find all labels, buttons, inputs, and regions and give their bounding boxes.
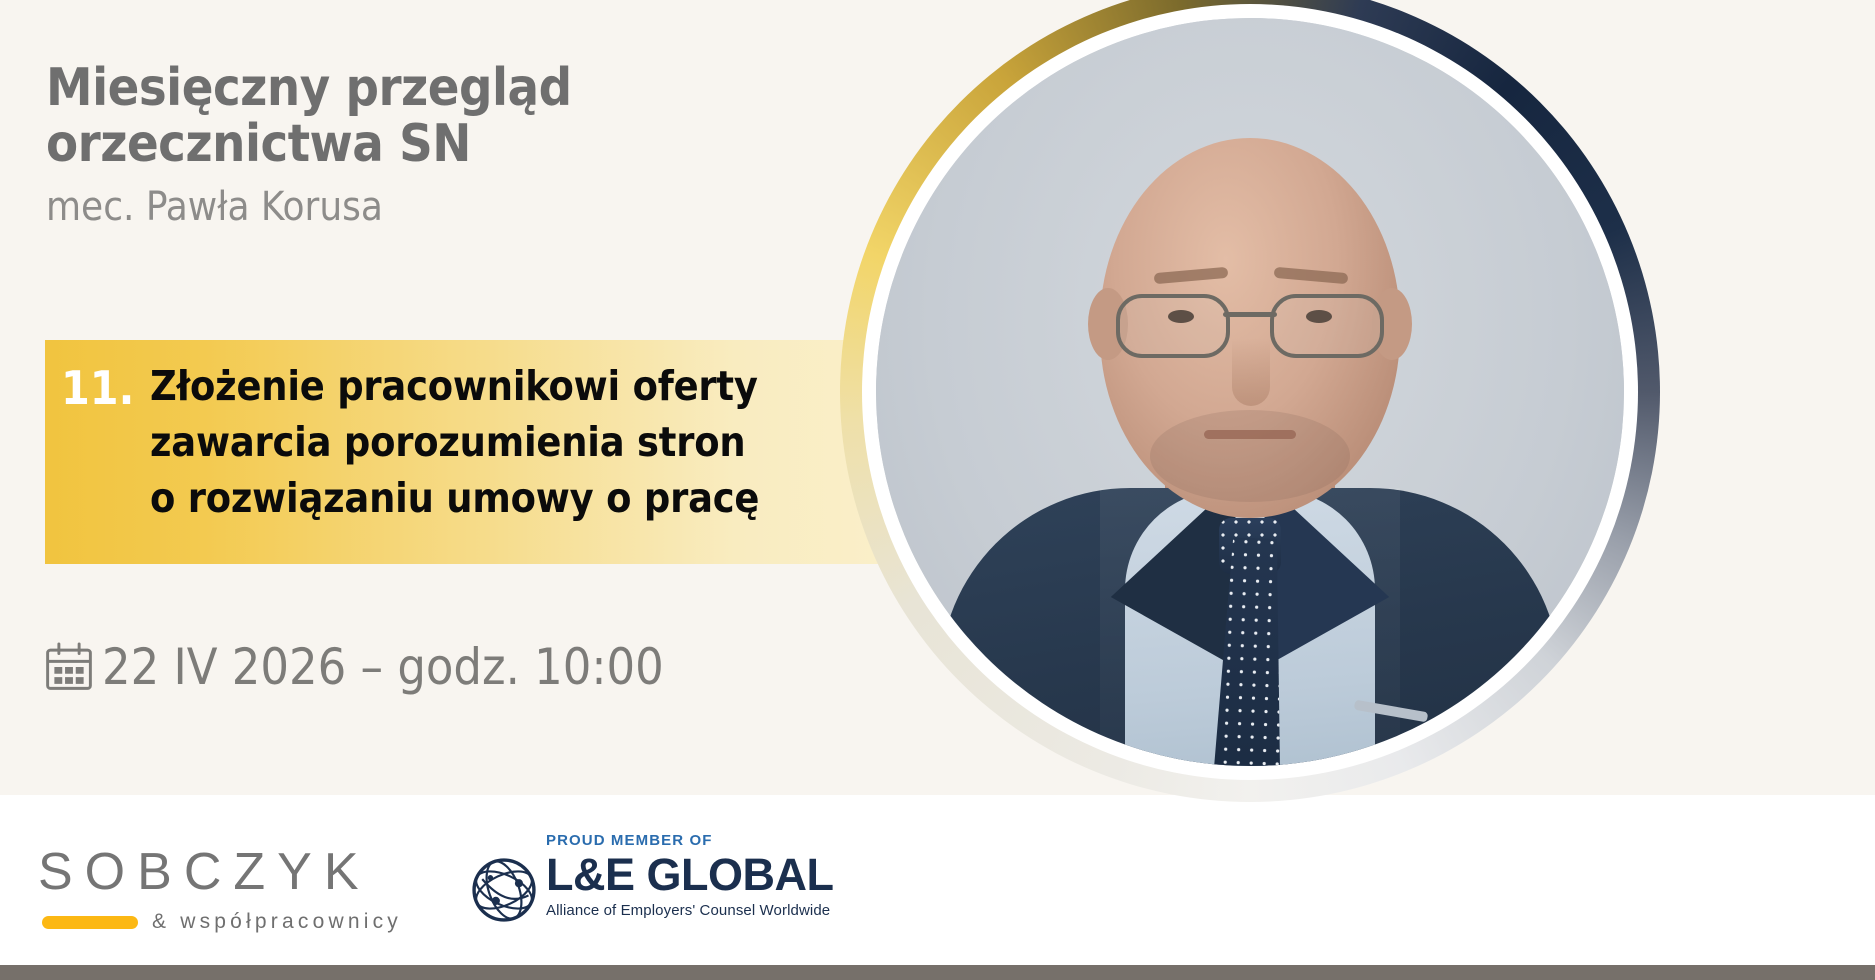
portrait-circle (840, 0, 1660, 802)
background-bottom-bar (0, 965, 1875, 980)
globe-network-icon (470, 856, 538, 924)
avatar (876, 18, 1624, 766)
topic-number: 11. (61, 362, 134, 414)
portrait-lens-right (1270, 294, 1384, 358)
portrait-jaw-shadow (1150, 410, 1350, 502)
event-date-row: 22 IV 2026 – godz. 10:00 (42, 640, 664, 694)
logo-sobczyk-tagline-row: & współpracownicy (38, 911, 368, 933)
logo-sobczyk[interactable]: SOBCZYK & współpracownicy (38, 845, 368, 935)
logo-le-global-text: PROUD MEMBER OF L&E GLOBAL Alliance of E… (546, 832, 776, 920)
logo-sobczyk-accent-bar (42, 916, 138, 929)
poster-canvas: Miesięczny przegląd orzecznictwa SN mec.… (0, 0, 1875, 980)
logo-le-global[interactable]: PROUD MEMBER OF L&E GLOBAL Alliance of E… (470, 832, 770, 942)
page-subtitle: mec. Pawła Korusa (46, 185, 806, 229)
topic-title-line2: zawarcia porozumienia stron (150, 414, 850, 470)
portrait-lens-left (1116, 294, 1230, 358)
logo-sobczyk-wordmark: SOBCZYK (38, 845, 368, 899)
page-title: Miesięczny przegląd orzecznictwa SN (46, 60, 806, 172)
page-title-line1: Miesięczny przegląd (46, 58, 572, 118)
portrait-mouth (1204, 430, 1296, 439)
portrait-nose (1232, 338, 1270, 406)
topic-title-line3: o rozwiązaniu umowy o pracę (150, 470, 850, 526)
logo-le-global-tagline: Alliance of Employers' Counsel Worldwide (546, 902, 776, 920)
calendar-icon (42, 640, 96, 694)
portrait-glasses-bridge (1223, 312, 1277, 317)
logo-le-global-eyebrow: PROUD MEMBER OF (546, 832, 776, 849)
topic-title: Złożenie pracownikowi oferty zawarcia po… (150, 358, 850, 526)
event-date-text: 22 IV 2026 – godz. 10:00 (102, 640, 664, 694)
topic-title-line1: Złożenie pracownikowi oferty (150, 358, 850, 414)
logo-le-global-name: L&E GLOBAL (546, 851, 776, 899)
topic-banner: 11. Złożenie pracownikowi oferty zawarci… (45, 340, 930, 564)
page-title-line2: orzecznictwa SN (46, 116, 806, 172)
logo-sobczyk-tagline: & współpracownicy (152, 911, 402, 933)
